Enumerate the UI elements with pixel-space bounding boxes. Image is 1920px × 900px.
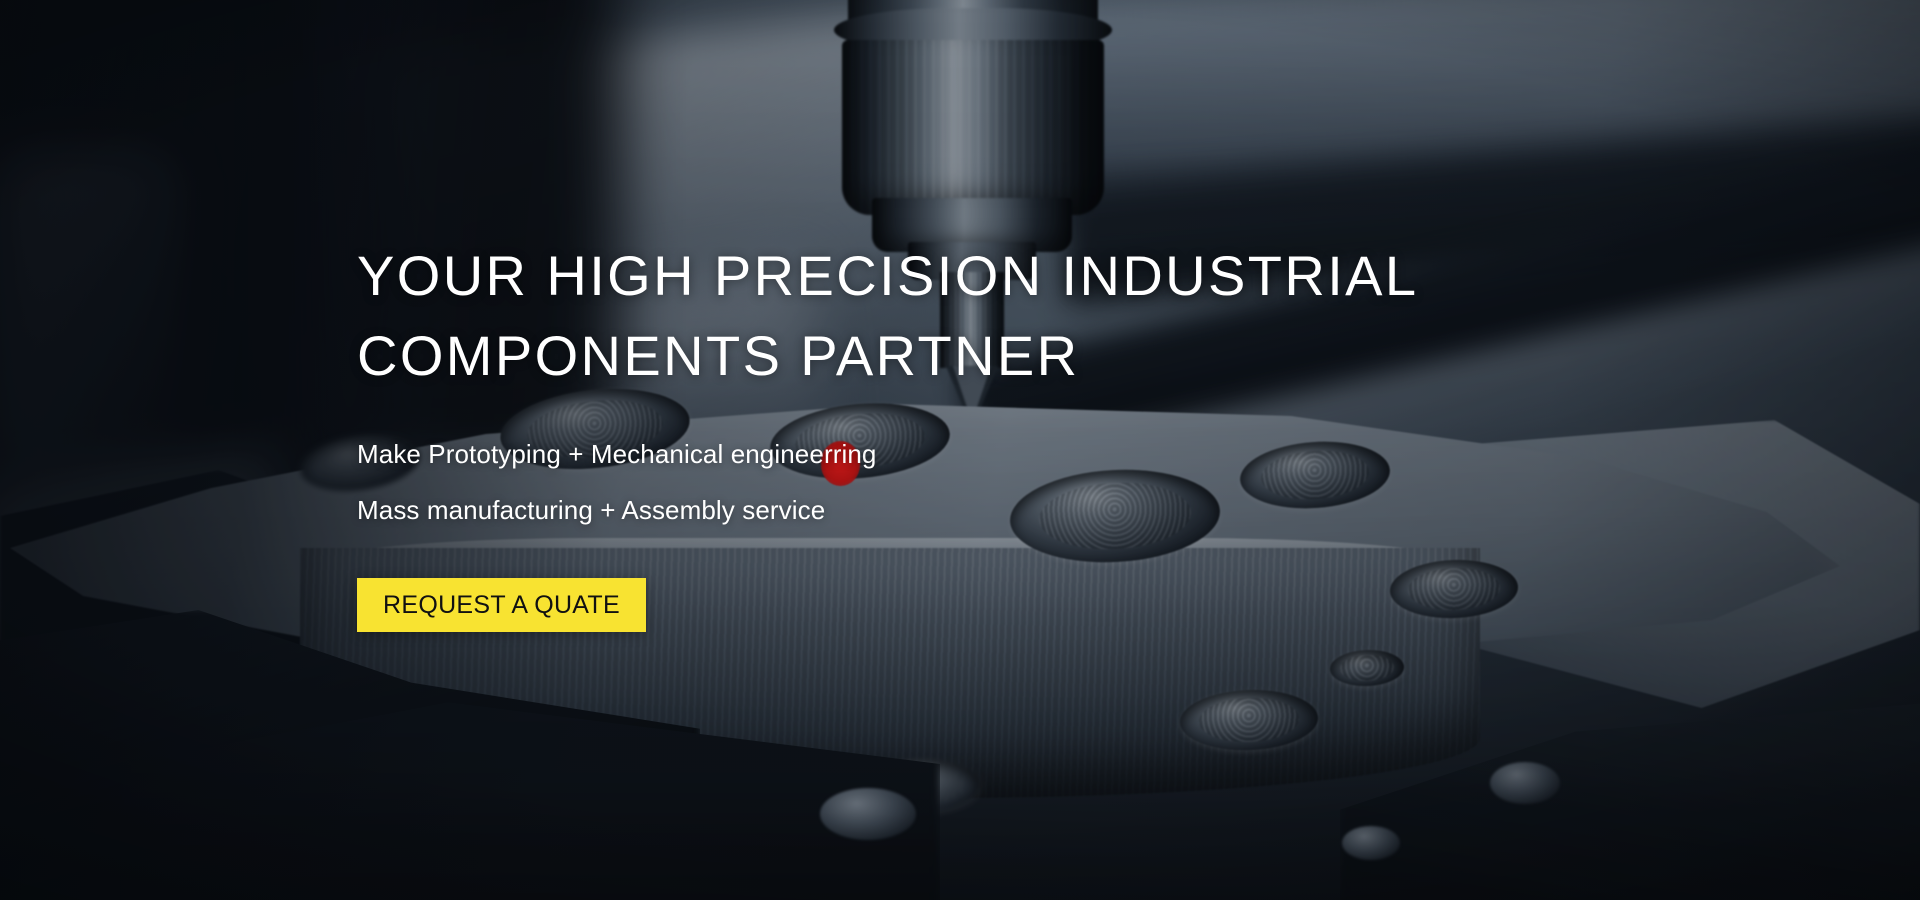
hero-banner: YOUR HIGH PRECISION INDUSTRIAL COMPONENT…	[0, 0, 1920, 900]
request-quote-button[interactable]: REQUEST A QUATE	[357, 578, 646, 632]
hero-subtitle-typo-highlight: rrin	[824, 426, 862, 482]
hero-subtitle-line-1-text: Make Prototyping + Mechanical enginee	[357, 439, 824, 469]
hero-subtitle-line-1-tail: g	[862, 439, 877, 469]
hero-cta-row: REQUEST A QUATE	[357, 578, 1557, 632]
hero-content: YOUR HIGH PRECISION INDUSTRIAL COMPONENT…	[357, 236, 1557, 632]
hero-subtitle-line-2: Mass manufacturing + Assembly service	[357, 482, 1557, 538]
hero-headline-line-1: YOUR HIGH PRECISION INDUSTRIAL	[357, 236, 1557, 316]
hero-headline-line-2: COMPONENTS PARTNER	[357, 316, 1557, 396]
hero-subtitle-line-1: Make Prototyping + Mechanical engineerri…	[357, 426, 1557, 482]
